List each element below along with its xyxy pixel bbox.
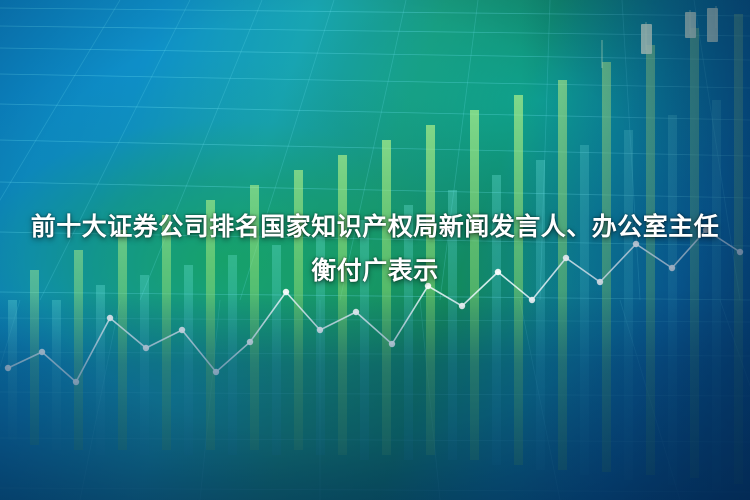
caption-line-2: 衡付广表示 <box>18 249 732 293</box>
caption-line-1: 前十大证券公司排名国家知识产权局新闻发言人、办公室主任 <box>18 205 732 249</box>
caption-text: 前十大证券公司排名国家知识产权局新闻发言人、办公室主任 衡付广表示 <box>0 205 750 293</box>
background-image: 前十大证券公司排名国家知识产权局新闻发言人、办公室主任 衡付广表示 <box>0 0 750 500</box>
